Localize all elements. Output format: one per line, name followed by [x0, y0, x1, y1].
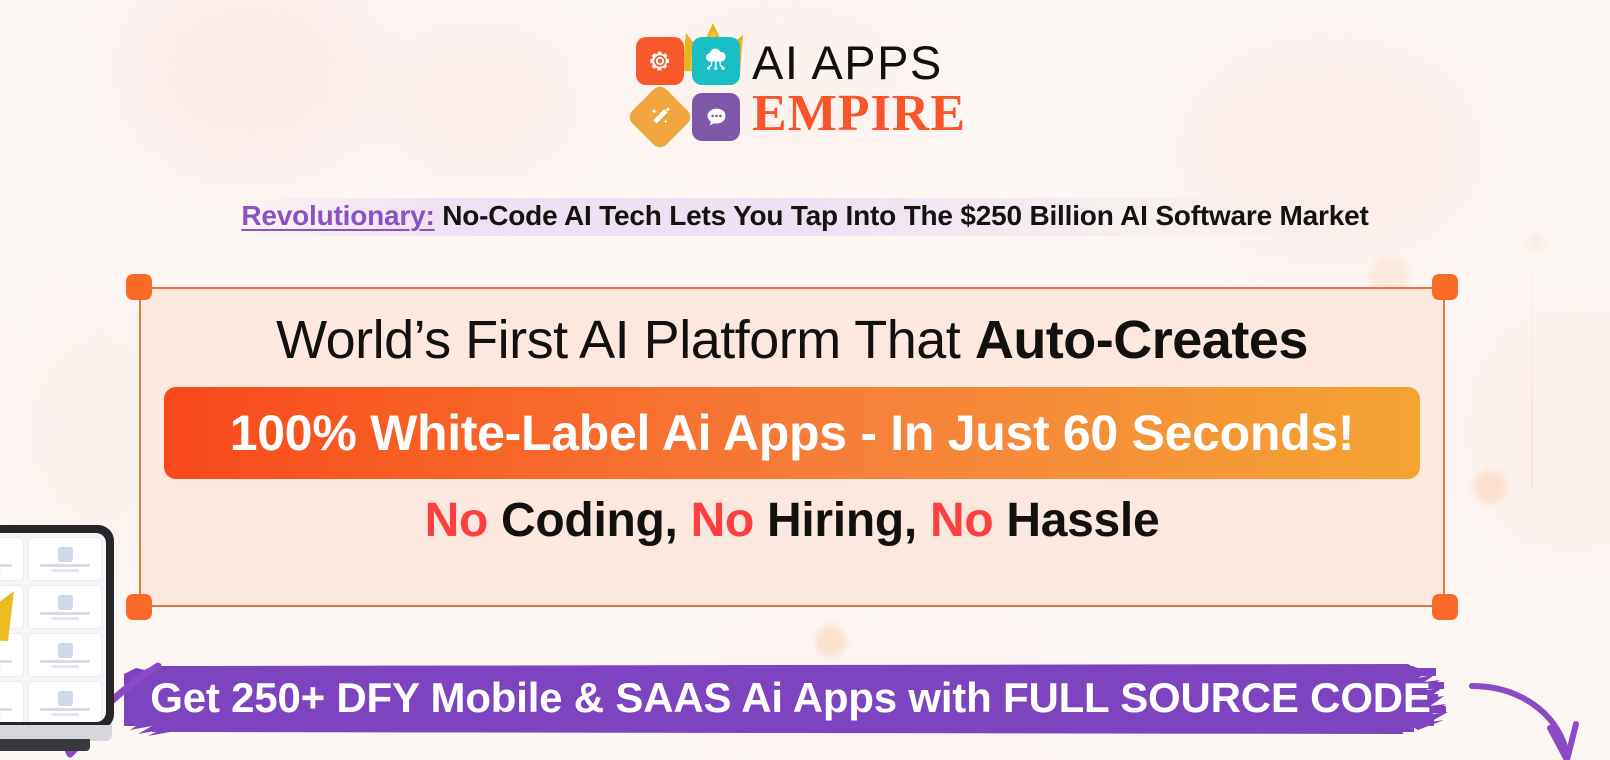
selection-handle-top-left[interactable] — [126, 274, 152, 300]
app-sublabel — [51, 569, 80, 572]
app-icon — [58, 547, 73, 562]
selection-handle-bottom-right[interactable] — [1432, 594, 1458, 620]
logo-icon-grid — [636, 37, 740, 141]
app-sublabel — [51, 713, 80, 716]
subheadline-row: Revolutionary: No-Code AI Tech Lets You … — [0, 198, 1610, 236]
app-label — [40, 708, 90, 711]
app-icon — [58, 643, 73, 658]
app-card — [28, 633, 102, 677]
hero-subline-text-2: Hiring, — [754, 494, 930, 547]
bg-blob — [380, 20, 580, 180]
device-foot — [0, 739, 90, 751]
subheadline-label: Revolutionary: — [241, 200, 434, 231]
hero-headline-prefix: World’s First AI Platform That — [276, 310, 975, 370]
logo-text-bottom: EMPIRE — [752, 88, 966, 140]
hero-subline: No Coding, No Hiring, No Hassle — [425, 493, 1160, 548]
curved-arrow-down-icon-right — [1468, 668, 1588, 760]
hero-headline: World’s First AI Platform That Auto-Crea… — [276, 309, 1308, 371]
device-logo-overlay — [0, 565, 24, 685]
app-card — [28, 681, 102, 722]
hero-subline-no-2: No — [691, 494, 754, 547]
app-icon — [58, 595, 73, 610]
selection-handle-bottom-left[interactable] — [126, 594, 152, 620]
subheadline: Revolutionary: No-Code AI Tech Lets You … — [231, 198, 1378, 236]
app-card — [0, 681, 24, 722]
cloud-icon — [701, 47, 731, 75]
hero-subline-text-3: Hassle — [993, 494, 1159, 547]
logo-text-top: AI APPS — [752, 39, 966, 86]
hero-block: World’s First AI Platform That Auto-Crea… — [139, 287, 1445, 607]
app-sublabel — [51, 665, 80, 668]
app-label — [0, 708, 12, 711]
subheadline-text: No-Code AI Tech Lets You Tap Into The $2… — [442, 200, 1368, 231]
bg-blob — [120, 0, 380, 180]
brand-logo[interactable]: AI APPS EMPIRE — [636, 33, 961, 145]
hero-orange-banner: 100% White-Label Ai Apps - In Just 60 Se… — [164, 387, 1420, 479]
decorative-dot — [815, 625, 847, 657]
magic-wand-icon-tile — [626, 83, 694, 151]
app-card — [28, 585, 102, 629]
bg-blob — [1460, 300, 1610, 560]
cloud-icon-tile — [692, 37, 740, 85]
gear-icon-tile — [636, 37, 684, 85]
hero-subline-text-1: Coding, — [488, 494, 691, 547]
app-label — [40, 660, 90, 663]
app-icon — [58, 691, 73, 706]
hero-subline-no-1: No — [425, 494, 488, 547]
gear-icon — [647, 48, 673, 74]
hero-banner-text: 100% White-Label Ai Apps - In Just 60 Se… — [230, 404, 1354, 462]
hero-subline-no-3: No — [930, 494, 993, 547]
tablet-device-mockup — [0, 525, 124, 760]
magic-wand-icon — [647, 104, 673, 130]
brush-banner: Get 250+ DFY Mobile & SAAS Ai Apps with … — [118, 660, 1463, 738]
decorative-pin-line — [1531, 235, 1533, 488]
logo-wordmark: AI APPS EMPIRE — [752, 39, 966, 140]
app-label — [40, 612, 90, 615]
app-label — [40, 564, 90, 567]
app-sublabel — [0, 713, 1, 716]
app-sublabel — [51, 617, 80, 620]
decorative-dot — [1473, 470, 1507, 504]
chat-bubble-icon-tile — [692, 93, 740, 141]
selection-handle-top-right[interactable] — [1432, 274, 1458, 300]
brush-banner-text: Get 250+ DFY Mobile & SAAS Ai Apps with … — [118, 660, 1463, 738]
chat-bubble-icon — [703, 104, 730, 131]
app-card — [28, 537, 102, 581]
hero-headline-bold: Auto-Creates — [975, 310, 1308, 370]
